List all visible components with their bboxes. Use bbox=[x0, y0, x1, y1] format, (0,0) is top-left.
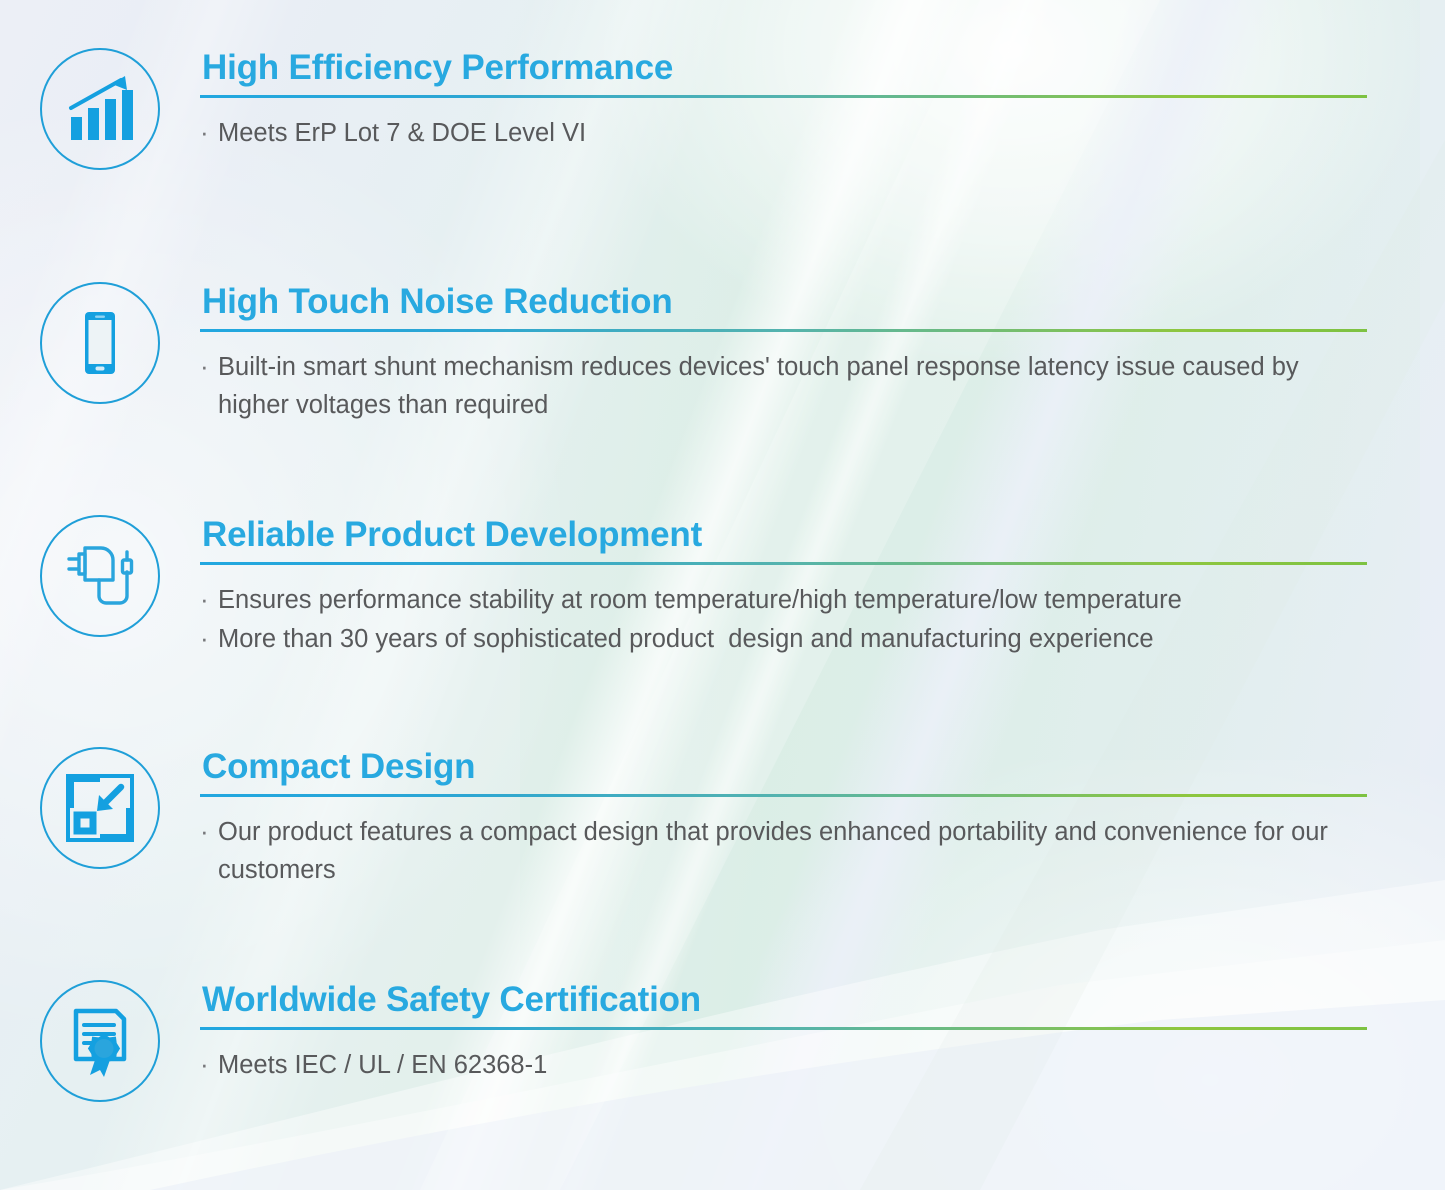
title-divider-rule bbox=[200, 95, 1367, 98]
icon-circle bbox=[40, 747, 160, 869]
icon-circle bbox=[40, 282, 160, 404]
title-divider-rule bbox=[200, 562, 1367, 565]
bullet-item: Meets ErP Lot 7 & DOE Level VI bbox=[200, 114, 1367, 152]
smartphone-icon bbox=[63, 306, 137, 380]
feature-icon-wrap bbox=[0, 978, 200, 1102]
feature-item-reliable-product-development: Reliable Product Development Ensures per… bbox=[0, 513, 1445, 659]
feature-content: Worldwide Safety Certification Meets IEC… bbox=[200, 978, 1445, 1085]
feature-bullets: Our product features a compact design th… bbox=[200, 813, 1367, 889]
feature-title: Compact Design bbox=[202, 747, 1367, 787]
bullet-item: Ensures performance stability at room te… bbox=[200, 581, 1367, 619]
feature-item-worldwide-safety-certification: Worldwide Safety Certification Meets IEC… bbox=[0, 978, 1445, 1102]
feature-content: Compact Design Our product features a co… bbox=[200, 745, 1445, 890]
feature-bullets: Meets ErP Lot 7 & DOE Level VI bbox=[200, 114, 1367, 152]
power-adapter-icon bbox=[61, 538, 139, 614]
feature-title: High Touch Noise Reduction bbox=[202, 282, 1367, 322]
feature-icon-wrap bbox=[0, 280, 200, 404]
feature-content: High Touch Noise Reduction Built-in smar… bbox=[200, 280, 1445, 425]
icon-circle bbox=[40, 48, 160, 170]
feature-bullets: Built-in smart shunt mechanism reduces d… bbox=[200, 348, 1367, 424]
feature-content: Reliable Product Development Ensures per… bbox=[200, 513, 1445, 659]
feature-item-compact-design: Compact Design Our product features a co… bbox=[0, 745, 1445, 890]
feature-icon-wrap bbox=[0, 513, 200, 637]
title-divider-rule bbox=[200, 1027, 1367, 1030]
bullet-item: Built-in smart shunt mechanism reduces d… bbox=[200, 348, 1367, 424]
feature-icon-wrap bbox=[0, 46, 200, 170]
feature-title: High Efficiency Performance bbox=[202, 48, 1367, 88]
feature-content: High Efficiency Performance Meets ErP Lo… bbox=[200, 46, 1445, 153]
feature-highlights-page: High Efficiency Performance Meets ErP Lo… bbox=[0, 0, 1445, 1190]
bullet-item: Our product features a compact design th… bbox=[200, 813, 1367, 889]
title-divider-rule bbox=[200, 329, 1367, 332]
icon-circle bbox=[40, 980, 160, 1102]
feature-title: Worldwide Safety Certification bbox=[202, 980, 1367, 1020]
feature-title: Reliable Product Development bbox=[202, 515, 1367, 555]
bullet-item: Meets IEC / UL / EN 62368-1 bbox=[200, 1046, 1367, 1084]
feature-item-high-efficiency-performance: High Efficiency Performance Meets ErP Lo… bbox=[0, 46, 1445, 170]
certificate-award-icon bbox=[64, 1005, 136, 1077]
title-divider-rule bbox=[200, 794, 1367, 797]
bullet-item: More than 30 years of sophisticated prod… bbox=[200, 620, 1367, 658]
feature-icon-wrap bbox=[0, 745, 200, 869]
feature-item-high-touch-noise-reduction: High Touch Noise Reduction Built-in smar… bbox=[0, 280, 1445, 425]
bar-chart-growth-icon bbox=[63, 72, 137, 146]
compact-resize-icon bbox=[65, 773, 135, 843]
feature-bullets: Meets IEC / UL / EN 62368-1 bbox=[200, 1046, 1367, 1084]
icon-circle bbox=[40, 515, 160, 637]
feature-bullets: Ensures performance stability at room te… bbox=[200, 581, 1367, 658]
